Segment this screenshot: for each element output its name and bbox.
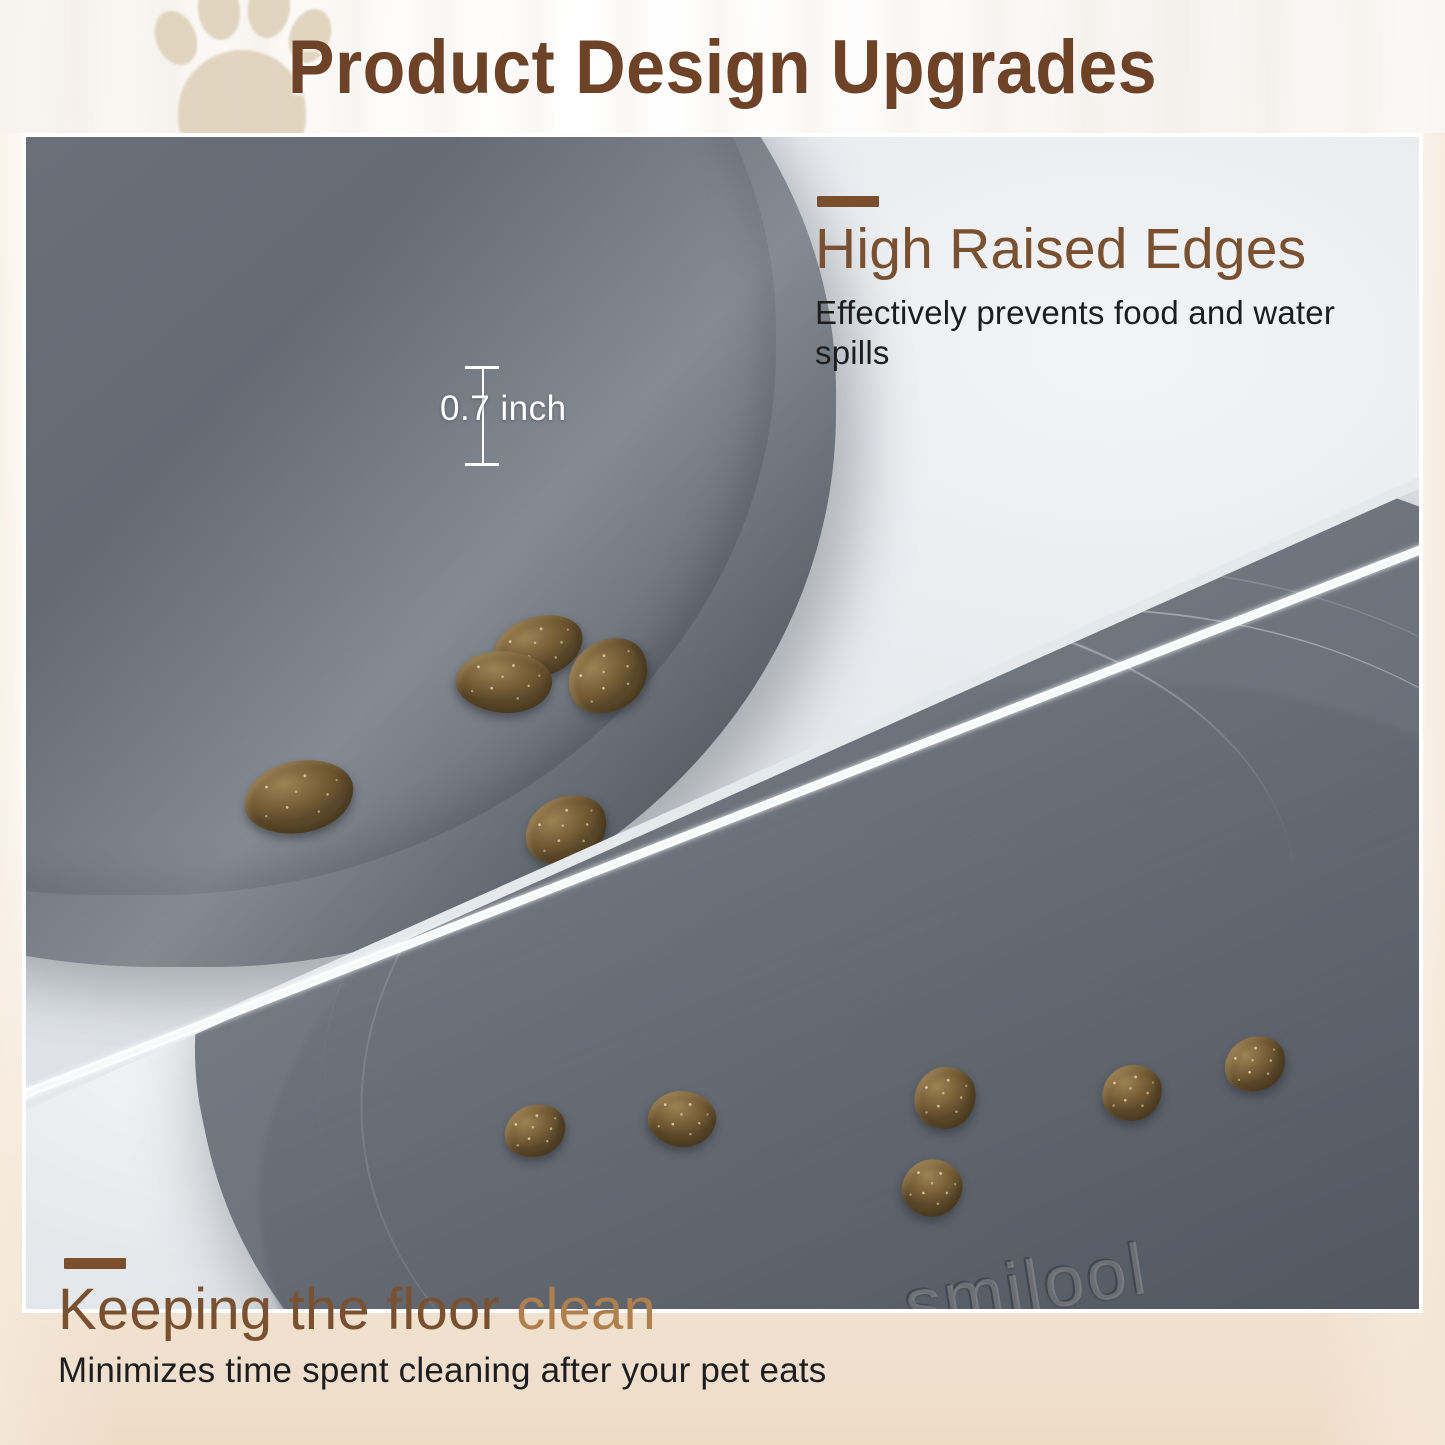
feature-keeping-floor-clean: Keeping the floor clean Minimizes time s… bbox=[58, 1258, 1258, 1392]
accent-bar-icon bbox=[817, 196, 879, 207]
feature-title: High Raised Edges bbox=[815, 219, 1415, 281]
dimension-callout: 0.7 inch bbox=[458, 355, 628, 477]
page-title: Product Design Upgrades bbox=[58, 24, 1387, 111]
feature-subtitle: Effectively prevents food and water spil… bbox=[815, 293, 1393, 374]
dimension-cap-bottom bbox=[465, 463, 499, 466]
accent-bar-icon bbox=[64, 1258, 126, 1269]
feature-title-main: Keeping the floor bbox=[58, 1277, 516, 1342]
feature-subtitle: Minimizes time spent cleaning after your… bbox=[58, 1350, 1258, 1393]
infographic-canvas: Product Design Upgrades bbox=[0, 0, 1445, 1445]
header-banner: Product Design Upgrades bbox=[0, 0, 1445, 133]
feature-high-raised-edges: High Raised Edges Effectively prevents f… bbox=[815, 196, 1415, 373]
feature-title-highlight: clean bbox=[516, 1277, 656, 1342]
feature-title: Keeping the floor clean bbox=[58, 1279, 1258, 1342]
dimension-label: 0.7 inch bbox=[440, 389, 567, 429]
